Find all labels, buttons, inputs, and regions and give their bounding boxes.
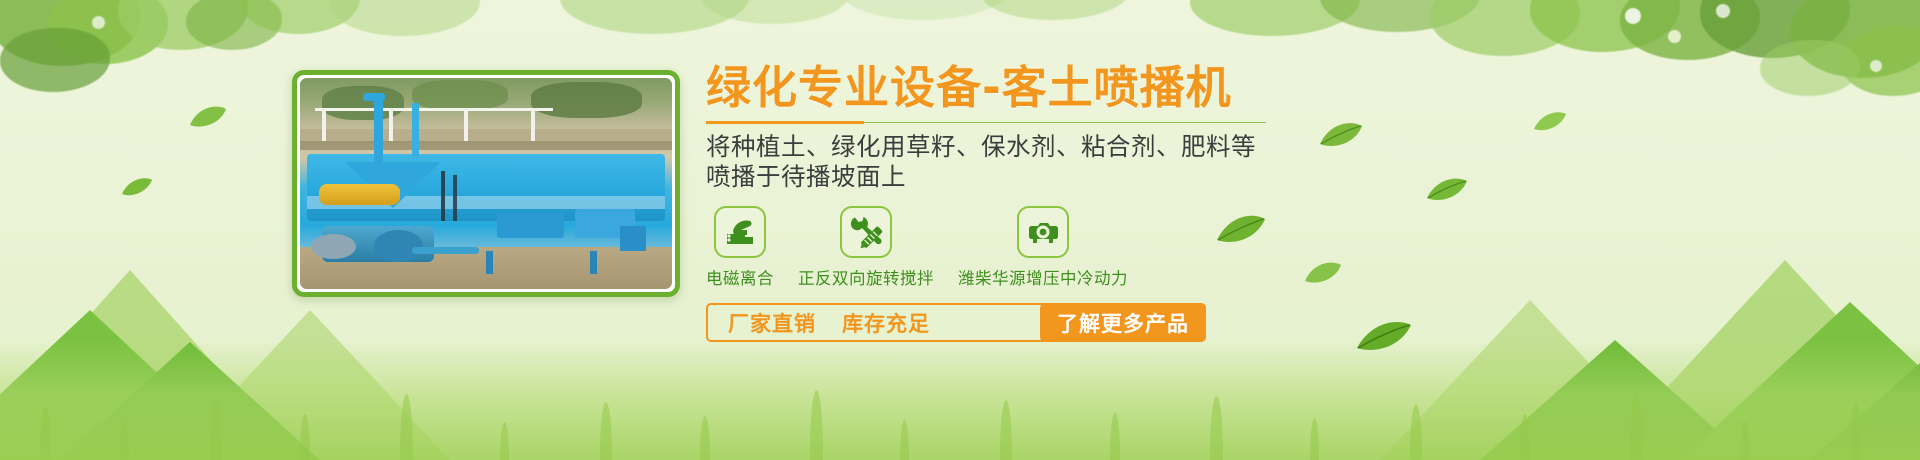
feature-label: 正反双向旋转搅拌 (798, 265, 934, 289)
floating-leaf-icon (1532, 110, 1568, 137)
divider-orange-segment (706, 121, 864, 124)
floating-leaf-icon (188, 104, 228, 134)
page-title: 绿化专业设备-客土喷播机 (706, 64, 1406, 111)
floating-leaf-icon (120, 176, 154, 202)
cta-tag-stock: 库存充足 (842, 308, 930, 338)
cta-tag-factory-direct: 厂家直销 (728, 308, 816, 338)
feature-item-electromagnetic-clutch[interactable]: 电磁离合 (706, 206, 774, 289)
engine-gear-icon (1017, 206, 1069, 258)
title-divider (706, 121, 1266, 124)
feature-item-bidirectional-mixing[interactable]: 正反双向旋转搅拌 (798, 206, 934, 289)
grass-decoration (0, 340, 1920, 460)
banner-content: 绿化专业设备-客土喷播机 将种植土、绿化用草籽、保水剂、粘合剂、肥料等 喷播于待… (706, 64, 1406, 342)
divider-green-segment (864, 122, 1266, 123)
feature-label: 电磁离合 (706, 265, 774, 289)
wrench-screwdriver-icon (840, 206, 892, 258)
clutch-hand-icon (714, 206, 766, 258)
product-photo (292, 70, 680, 297)
cta-bar: 厂家直销 库存充足 了解更多产品 (706, 303, 1206, 342)
subtitle-line-2: 喷播于待播坡面上 (706, 162, 1406, 192)
promo-banner: 绿化专业设备-客土喷播机 将种植土、绿化用草籽、保水剂、粘合剂、肥料等 喷播于待… (0, 0, 1920, 460)
feature-list: 电磁离合 (706, 206, 1406, 289)
feature-item-weichai-power[interactable]: 潍柴华源增压中冷动力 (958, 206, 1128, 289)
learn-more-button[interactable]: 了解更多产品 (1040, 303, 1206, 342)
product-photo-image (300, 78, 672, 289)
floating-leaf-icon (1425, 176, 1469, 208)
subtitle-line-1: 将种植土、绿化用草籽、保水剂、粘合剂、肥料等 (706, 132, 1406, 162)
feature-label: 潍柴华源增压中冷动力 (958, 265, 1128, 289)
